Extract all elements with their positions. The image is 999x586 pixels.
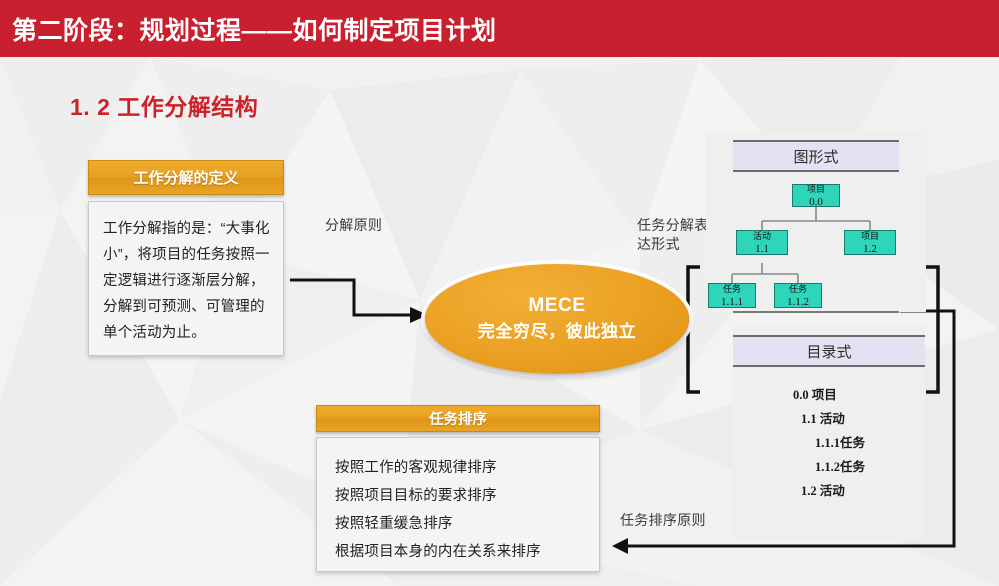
outline-format-title: 目录式 bbox=[733, 335, 925, 367]
mece-subtitle: 完全穷尽，彼此独立 bbox=[478, 319, 636, 345]
outline-item: 0.0 项目 bbox=[733, 383, 925, 407]
definition-card-text: 工作分解指的是：“大事化小”，将项目的任务按照一定逻辑进行逐渐层分解，分解到可预… bbox=[103, 216, 271, 346]
wbs-node-label: 任务 bbox=[789, 283, 807, 296]
outline-item: 1.2 活动 bbox=[733, 479, 925, 503]
slide-canvas: 第二阶段：规划过程——如何制定项目计划 1. 2 工作分解结构 分解原则 任务分… bbox=[0, 0, 999, 586]
wbs-node-code: 1.1.1 bbox=[721, 296, 743, 309]
outline-item: 1.1.1任务 bbox=[733, 431, 925, 455]
outline-item: 1.1 活动 bbox=[733, 407, 925, 431]
outline-item: 1.1.2任务 bbox=[733, 455, 925, 479]
wbs-node-1-1-2: 任务 1.1.2 bbox=[774, 283, 822, 308]
page-title: 第二阶段：规划过程——如何制定项目计划 bbox=[0, 11, 497, 47]
wbs-node-label: 项目 bbox=[807, 183, 825, 196]
wbs-node-label: 项目 bbox=[861, 230, 879, 243]
section-heading: 1. 2 工作分解结构 bbox=[70, 88, 258, 122]
ordering-item: 按照工作的客观规律排序 bbox=[335, 454, 599, 482]
panel-divider bbox=[733, 311, 899, 313]
ordering-item: 根据项目本身的内在关系来排序 bbox=[335, 538, 599, 566]
label-task-expression-line2: 达形式 bbox=[637, 235, 709, 254]
definition-card-header: 工作分解的定义 bbox=[88, 160, 284, 195]
wbs-node-code: 1.2 bbox=[863, 243, 877, 256]
outline-item-list: 0.0 项目 1.1 活动 1.1.1任务 1.1.2任务 1.2 活动 bbox=[733, 383, 925, 503]
wbs-node-label: 任务 bbox=[723, 283, 741, 296]
ordering-card-body: 按照工作的客观规律排序 按照项目目标的要求排序 按照轻重缓急排序 根据项目本身的… bbox=[316, 437, 600, 572]
wbs-node-code: 1.1.2 bbox=[787, 296, 809, 309]
wbs-node-1-1: 活动 1.1 bbox=[736, 230, 788, 255]
wbs-node-code: 1.1 bbox=[755, 243, 769, 256]
slide-title-bar: 第二阶段：规划过程——如何制定项目计划 bbox=[0, 0, 999, 57]
ordering-card-header: 任务排序 bbox=[316, 405, 600, 432]
graphic-format-panel: 图形式 项目 0.0 活动 1.1 项目 1.2 任务 1.1.1 任务 1.1… bbox=[706, 132, 926, 312]
mece-ellipse: MECE 完全穷尽，彼此独立 bbox=[425, 264, 689, 374]
label-decompose-principle: 分解原则 bbox=[325, 216, 382, 235]
definition-card-body: 工作分解指的是：“大事化小”，将项目的任务按照一定逻辑进行逐渐层分解，分解到可预… bbox=[88, 201, 284, 356]
wbs-node-0-0: 项目 0.0 bbox=[792, 184, 840, 207]
wbs-node-1-1-1: 任务 1.1.1 bbox=[708, 283, 756, 308]
ordering-item: 按照项目目标的要求排序 bbox=[335, 482, 599, 510]
outline-format-panel: 目录式 0.0 项目 1.1 活动 1.1.1任务 1.1.2任务 1.2 活动 bbox=[733, 325, 925, 540]
label-task-expression: 任务分解表 达形式 bbox=[637, 216, 709, 254]
wbs-node-label: 活动 bbox=[753, 230, 771, 243]
wbs-node-1-2: 项目 1.2 bbox=[844, 230, 896, 255]
ordering-item: 按照轻重缓急排序 bbox=[335, 510, 599, 538]
label-ordering-principle: 任务排序原则 bbox=[620, 511, 706, 530]
wbs-node-code: 0.0 bbox=[809, 196, 823, 209]
label-task-expression-line1: 任务分解表 bbox=[637, 216, 709, 235]
mece-title: MECE bbox=[528, 293, 585, 319]
